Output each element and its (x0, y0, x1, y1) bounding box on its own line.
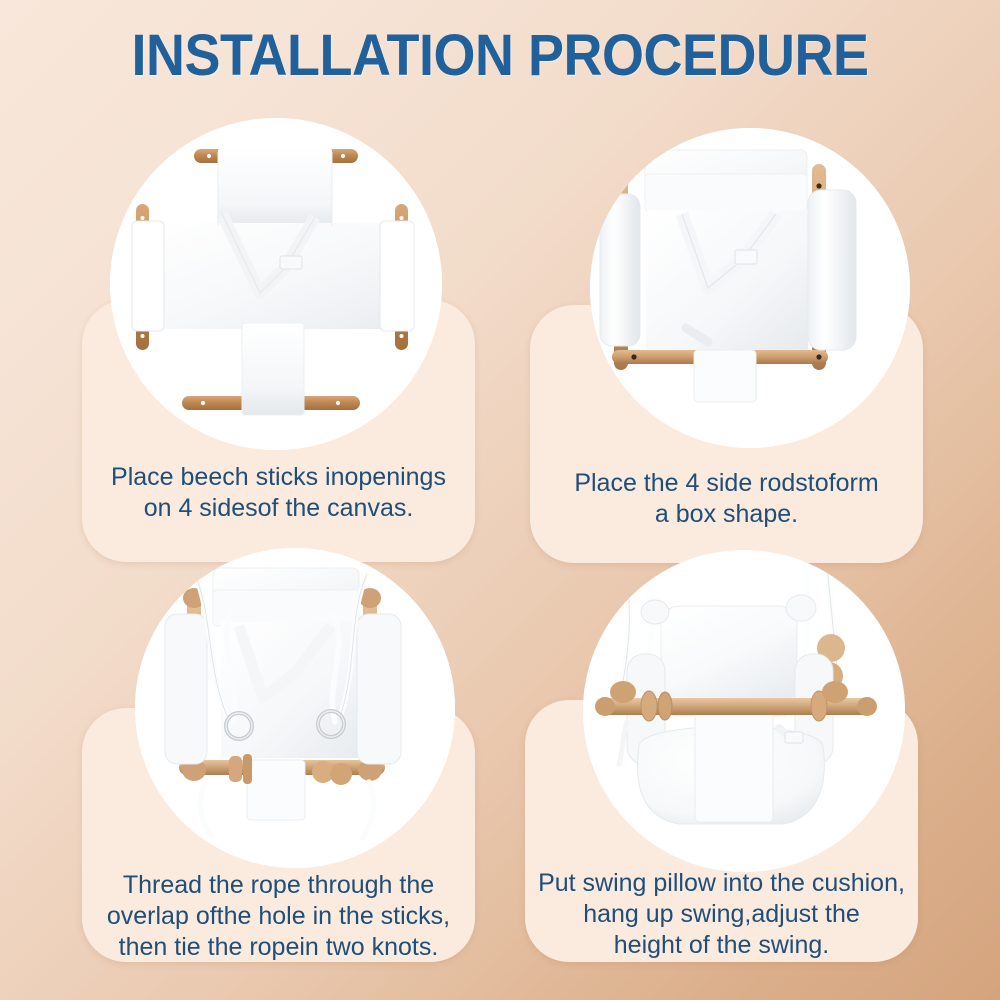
step-1-caption: Place beech sticks inopenings on 4 sides… (82, 462, 475, 524)
page-title: INSTALLATION PROCEDURE (35, 22, 965, 89)
step-1-photo (110, 118, 442, 450)
step-4-photo (583, 550, 905, 872)
assembled-swing-illustration (583, 550, 905, 872)
rope-threading-illustration (135, 548, 455, 868)
step-2-caption: Place the 4 side rodstoform a box shape. (530, 468, 923, 530)
box-frame-illustration (590, 128, 910, 448)
step-3-caption: Thread the rope through the overlap ofth… (82, 870, 475, 963)
infographic-page: INSTALLATION PROCEDURE (0, 0, 1000, 1000)
step-2-photo (590, 128, 910, 448)
canvas-with-sticks-illustration (110, 118, 442, 450)
step-4-caption: Put swing pillow into the cushion, hang … (525, 868, 918, 961)
step-3-photo (135, 548, 455, 868)
